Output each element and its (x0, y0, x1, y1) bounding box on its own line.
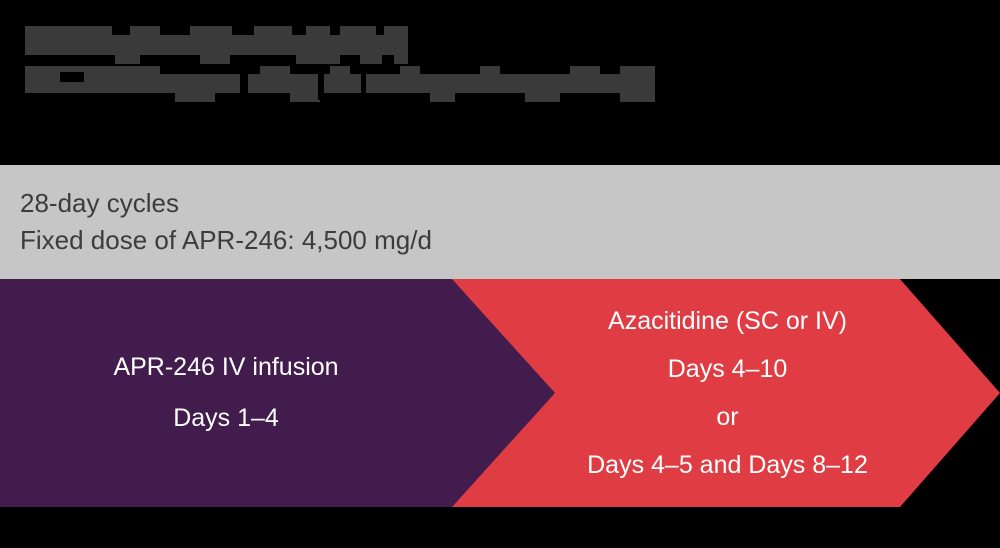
redaction-notch (290, 66, 330, 74)
redaction-notch (60, 72, 84, 82)
redaction-notch (382, 55, 394, 64)
redaction-notch (361, 66, 366, 102)
redaction-notch (215, 93, 290, 102)
azacitidine-arrow-label: Azacitidine (SC or IV) Days 4–10 or Days… (555, 279, 900, 507)
redaction-notch (160, 26, 190, 35)
apr246-drug-line: APR-246 IV infusion (113, 353, 338, 382)
redaction-notch (112, 26, 130, 35)
azacitidine-or-separator: or (716, 403, 738, 432)
redaction-notch (340, 55, 360, 64)
cycle-length-text: 28-day cycles (20, 185, 1000, 222)
redaction-notch (420, 66, 480, 74)
redaction-notch (318, 68, 324, 100)
redaction-notch (25, 93, 175, 102)
redaction-notch (330, 26, 340, 35)
redaction-notch (350, 66, 400, 74)
redaction-notch (376, 26, 384, 35)
azacitidine-days-line-1: Days 4–10 (668, 355, 788, 384)
azacitidine-days-line-2: Days 4–5 and Days 8–12 (587, 451, 868, 480)
fixed-dose-text: Fixed dose of APR-246: 4,500 mg/d (20, 222, 1000, 259)
redaction-notch (240, 66, 248, 102)
apr246-arrow-label: APR-246 IV infusion Days 1–4 (0, 279, 452, 507)
redaction-notch (455, 93, 525, 102)
redaction-notch (140, 55, 200, 64)
redaction-notch (25, 55, 115, 64)
info-band: 28-day cycles Fixed dose of APR-246: 4,5… (0, 165, 1000, 279)
apr246-days-line: Days 1–4 (173, 404, 279, 433)
redaction-notch (230, 55, 296, 64)
redaction-notch (560, 93, 620, 102)
treatment-schema-arrows: APR-246 IV infusion Days 1–4 Azacitidine… (0, 279, 1000, 507)
redaction-notch (600, 66, 620, 74)
redaction-notch (320, 93, 430, 102)
redaction-notch (232, 26, 254, 35)
redaction-notch (500, 66, 570, 74)
redaction-notch (292, 26, 306, 35)
title-block (0, 0, 1000, 165)
azacitidine-drug-line: Azacitidine (SC or IV) (608, 307, 847, 336)
